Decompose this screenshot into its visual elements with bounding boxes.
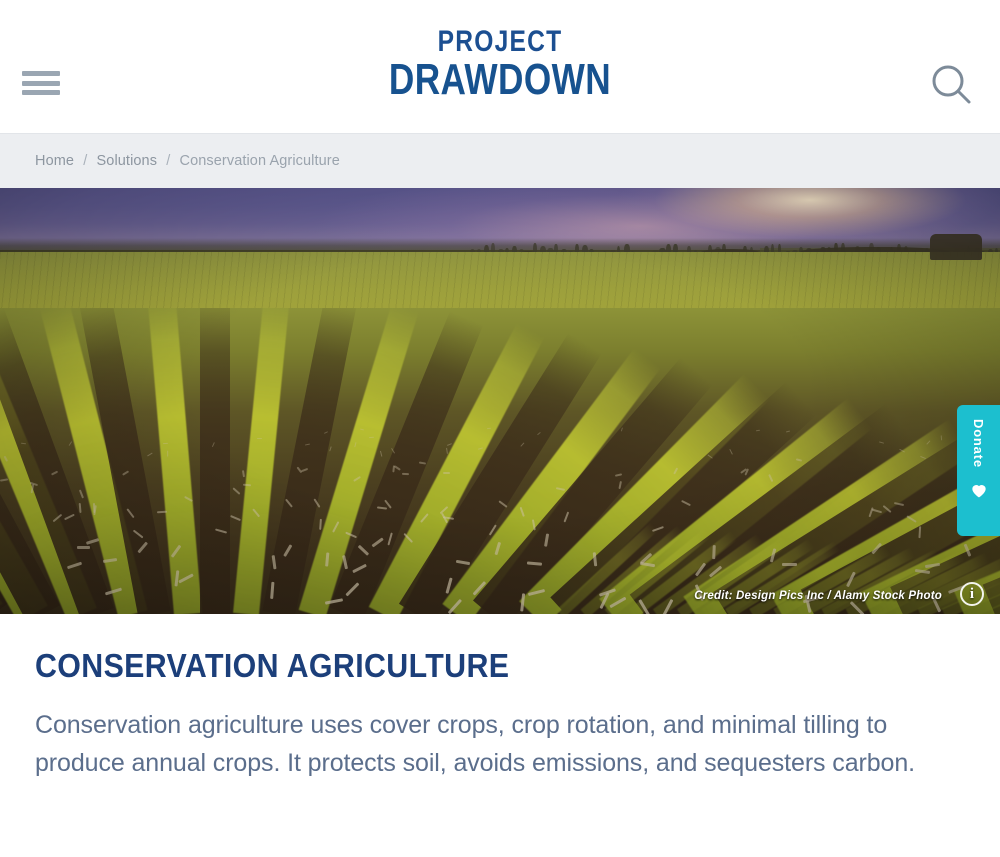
hero-image-credit: Credit: Design Pics Inc / Alamy Stock Ph… xyxy=(694,590,942,602)
crop-residue xyxy=(0,478,8,481)
crop-residue xyxy=(147,452,153,456)
crop-residue xyxy=(319,518,322,530)
crop-residue xyxy=(402,473,409,475)
page-title: Conservation Agriculture xyxy=(35,649,858,684)
breadcrumb-item-current: Conservation Agriculture xyxy=(180,153,340,169)
crop-residue xyxy=(782,563,797,566)
crop-residue xyxy=(756,429,760,431)
search-icon[interactable] xyxy=(926,60,978,112)
hero-distant-farmstead xyxy=(930,234,982,260)
breadcrumb-separator: / xyxy=(78,153,92,169)
donate-button-label: Donate xyxy=(972,419,985,468)
breadcrumb-bar: Home / Solutions / Conservation Agricult… xyxy=(0,133,1000,188)
crop-residue xyxy=(243,470,246,478)
crop-residue xyxy=(167,450,168,456)
crop-residue xyxy=(243,483,251,485)
crop-residue xyxy=(79,503,82,513)
crop-residue xyxy=(329,446,332,452)
soil-furrow xyxy=(200,308,230,614)
breadcrumb-item-solutions[interactable]: Solutions xyxy=(97,153,158,169)
breadcrumb-separator: / xyxy=(161,153,175,169)
info-circle-icon[interactable]: i xyxy=(960,582,984,606)
logo-line-project: PROJECT xyxy=(90,28,910,57)
hero-crop-field xyxy=(0,308,1000,614)
crop-residue xyxy=(443,472,450,474)
page-root: PROJECT DRAWDOWN Home / Solutions / Cons… xyxy=(0,0,1000,857)
crop-residue xyxy=(77,546,90,549)
crop-residue xyxy=(232,487,240,494)
breadcrumb-item-home[interactable]: Home xyxy=(35,153,74,169)
crop-residue xyxy=(446,448,448,454)
site-logo[interactable]: PROJECT DRAWDOWN xyxy=(0,28,1000,102)
donate-button[interactable]: Donate xyxy=(957,405,1000,536)
hero-image: Credit: Design Pics Inc / Alamy Stock Ph… xyxy=(0,188,1000,614)
site-header: PROJECT DRAWDOWN xyxy=(0,0,1000,133)
page-intro-text: Conservation agriculture uses cover crop… xyxy=(35,706,930,784)
main-content: Conservation Agriculture Conservation ag… xyxy=(0,614,1000,803)
crop-residue xyxy=(79,489,84,498)
breadcrumb: Home / Solutions / Conservation Agricult… xyxy=(0,153,340,169)
heart-icon xyxy=(969,480,989,500)
crop-residue xyxy=(230,515,241,521)
crop-residue xyxy=(379,451,382,457)
crop-residue xyxy=(69,441,73,446)
logo-line-drawdown: DRAWDOWN xyxy=(100,58,900,102)
